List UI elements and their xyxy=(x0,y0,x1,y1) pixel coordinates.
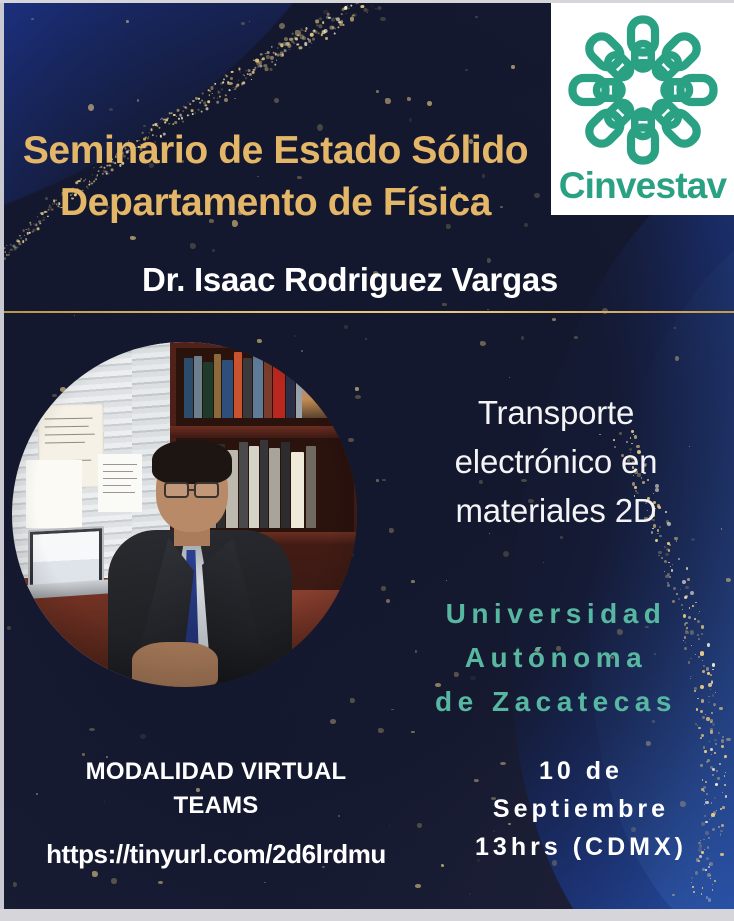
speaker-name: Dr. Isaac Rodriguez Vargas xyxy=(0,259,700,301)
viewport-edge-left xyxy=(0,0,4,921)
page-title: Seminario de Estado Sólido Departamento … xyxy=(0,125,551,229)
affiliation-line-1: Universidad xyxy=(380,592,732,636)
speaker-photo xyxy=(12,342,357,687)
photo-vignette xyxy=(12,342,357,687)
seminar-title-line-2: Departamento de Física xyxy=(0,177,551,229)
cinvestav-chain-logo-icon xyxy=(567,15,719,165)
meeting-link[interactable]: https://tinyurl.com/2d6lrdmu xyxy=(6,837,426,871)
modality-line-1: MODALIDAD VIRTUAL xyxy=(6,755,426,789)
modality-line-2: TEAMS xyxy=(6,789,426,823)
cinvestav-wordmark: Cinvestav xyxy=(559,167,727,204)
affiliation-line-2: Autónoma xyxy=(380,636,732,680)
seminar-poster: Cinvestav Seminario de Estado Sólido Dep… xyxy=(0,0,734,921)
event-datetime: 10 de Septiembre 13hrs (CDMX) xyxy=(436,752,726,866)
talk-title: Transporte electrónico en materiales 2D xyxy=(392,388,720,535)
datetime-line-2: Septiembre xyxy=(436,790,726,828)
talk-title-line-3: materiales 2D xyxy=(392,486,720,535)
datetime-line-3: 13hrs (CDMX) xyxy=(436,828,726,866)
affiliation-line-3: de Zacatecas xyxy=(380,680,732,724)
gold-divider xyxy=(0,311,734,313)
speaker-affiliation: Universidad Autónoma de Zacatecas xyxy=(380,592,732,724)
talk-title-line-1: Transporte xyxy=(392,388,720,437)
modality-block: MODALIDAD VIRTUAL TEAMS https://tinyurl.… xyxy=(6,755,426,871)
viewport-edge-bottom xyxy=(0,909,734,921)
seminar-title-line-1: Seminario de Estado Sólido xyxy=(0,125,551,177)
cinvestav-logo-box: Cinvestav xyxy=(551,3,734,215)
viewport-edge-top xyxy=(0,0,734,3)
datetime-line-1: 10 de xyxy=(436,752,726,790)
talk-title-line-2: electrónico en xyxy=(392,437,720,486)
